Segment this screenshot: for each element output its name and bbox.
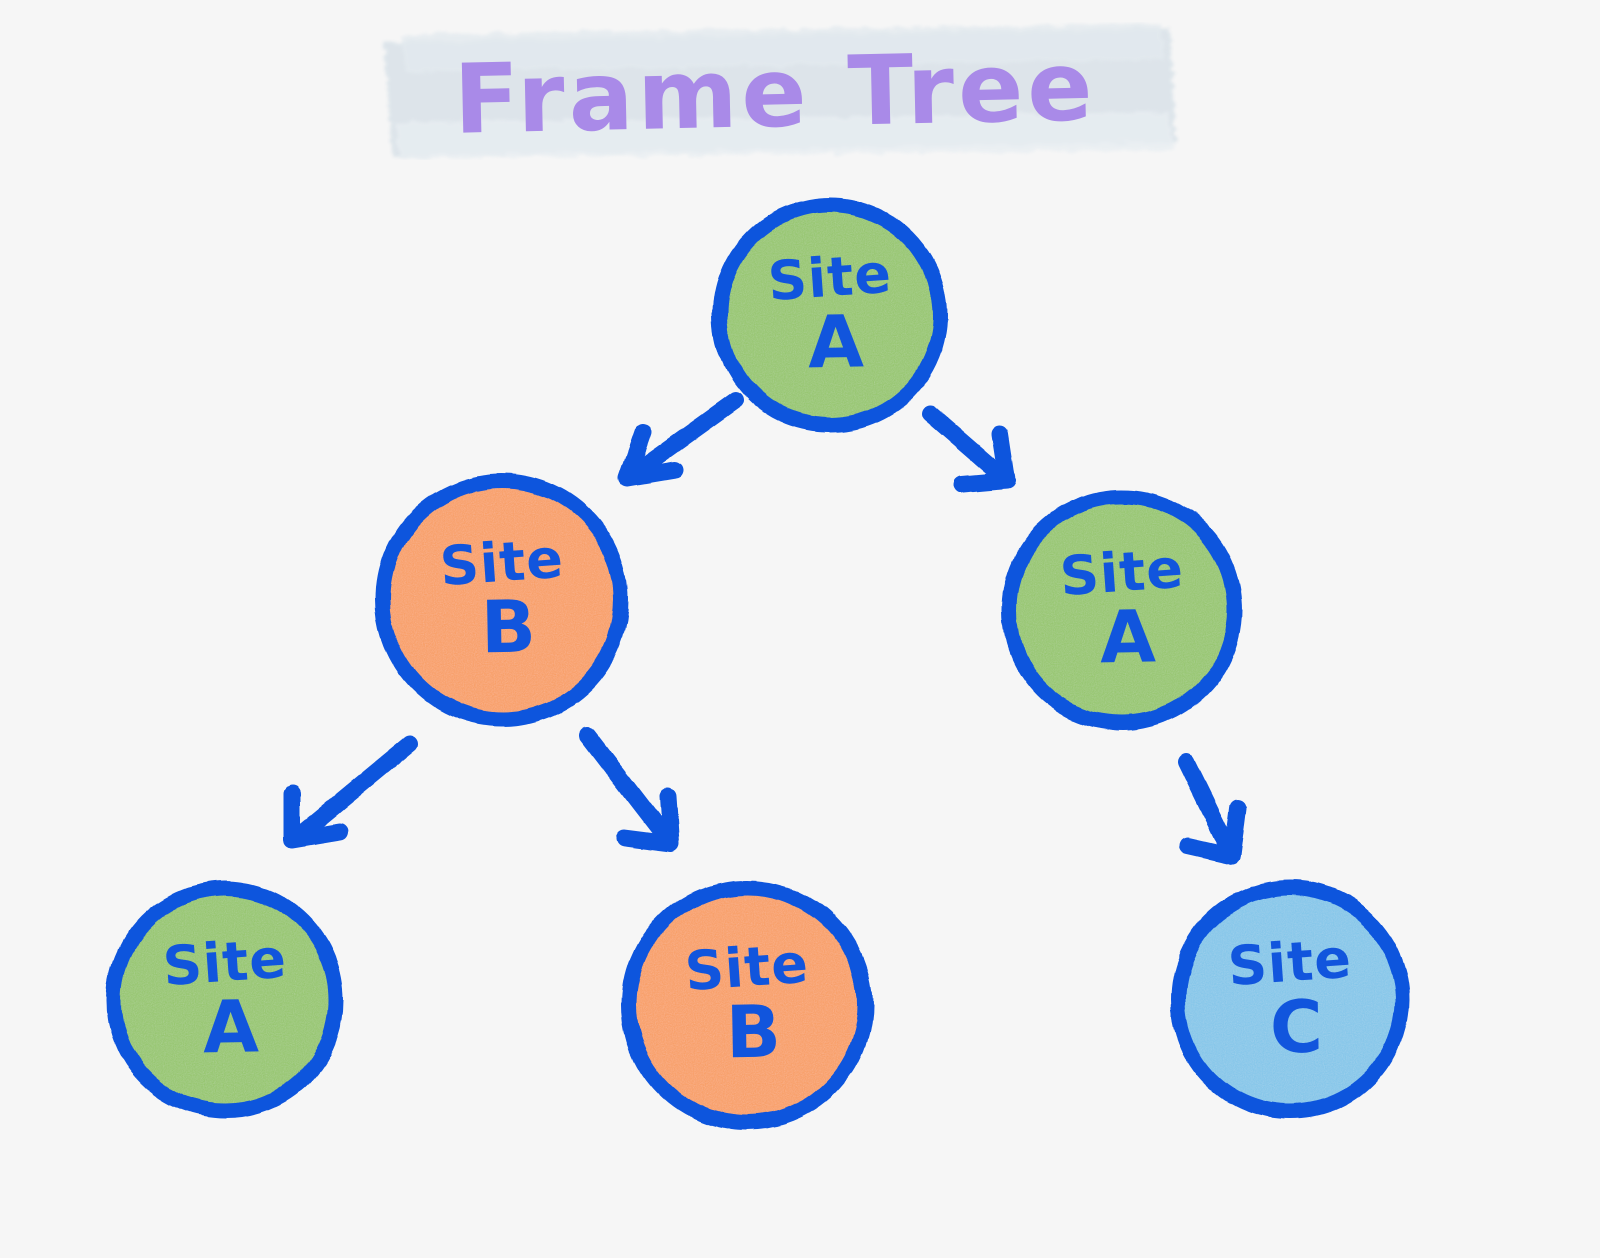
node-mid-left[interactable] [378, 476, 626, 724]
node-mid-right[interactable] [1004, 492, 1240, 728]
node-bottom-middle[interactable] [624, 882, 870, 1128]
node-bottom-left[interactable] [109, 884, 341, 1116]
node-root[interactable] [715, 200, 945, 430]
edge-mid-left-to-bottom-middle [588, 736, 671, 844]
edge-root-to-mid-left [627, 400, 736, 478]
edge-root-to-mid-right [930, 414, 1007, 484]
edge-mid-right-to-bottom-right [1186, 762, 1238, 856]
frame-tree-diagram: Frame Tree [0, 0, 1600, 1258]
edge-mid-left-to-bottom-left [292, 744, 410, 840]
node-bottom-right[interactable] [1173, 883, 1407, 1117]
